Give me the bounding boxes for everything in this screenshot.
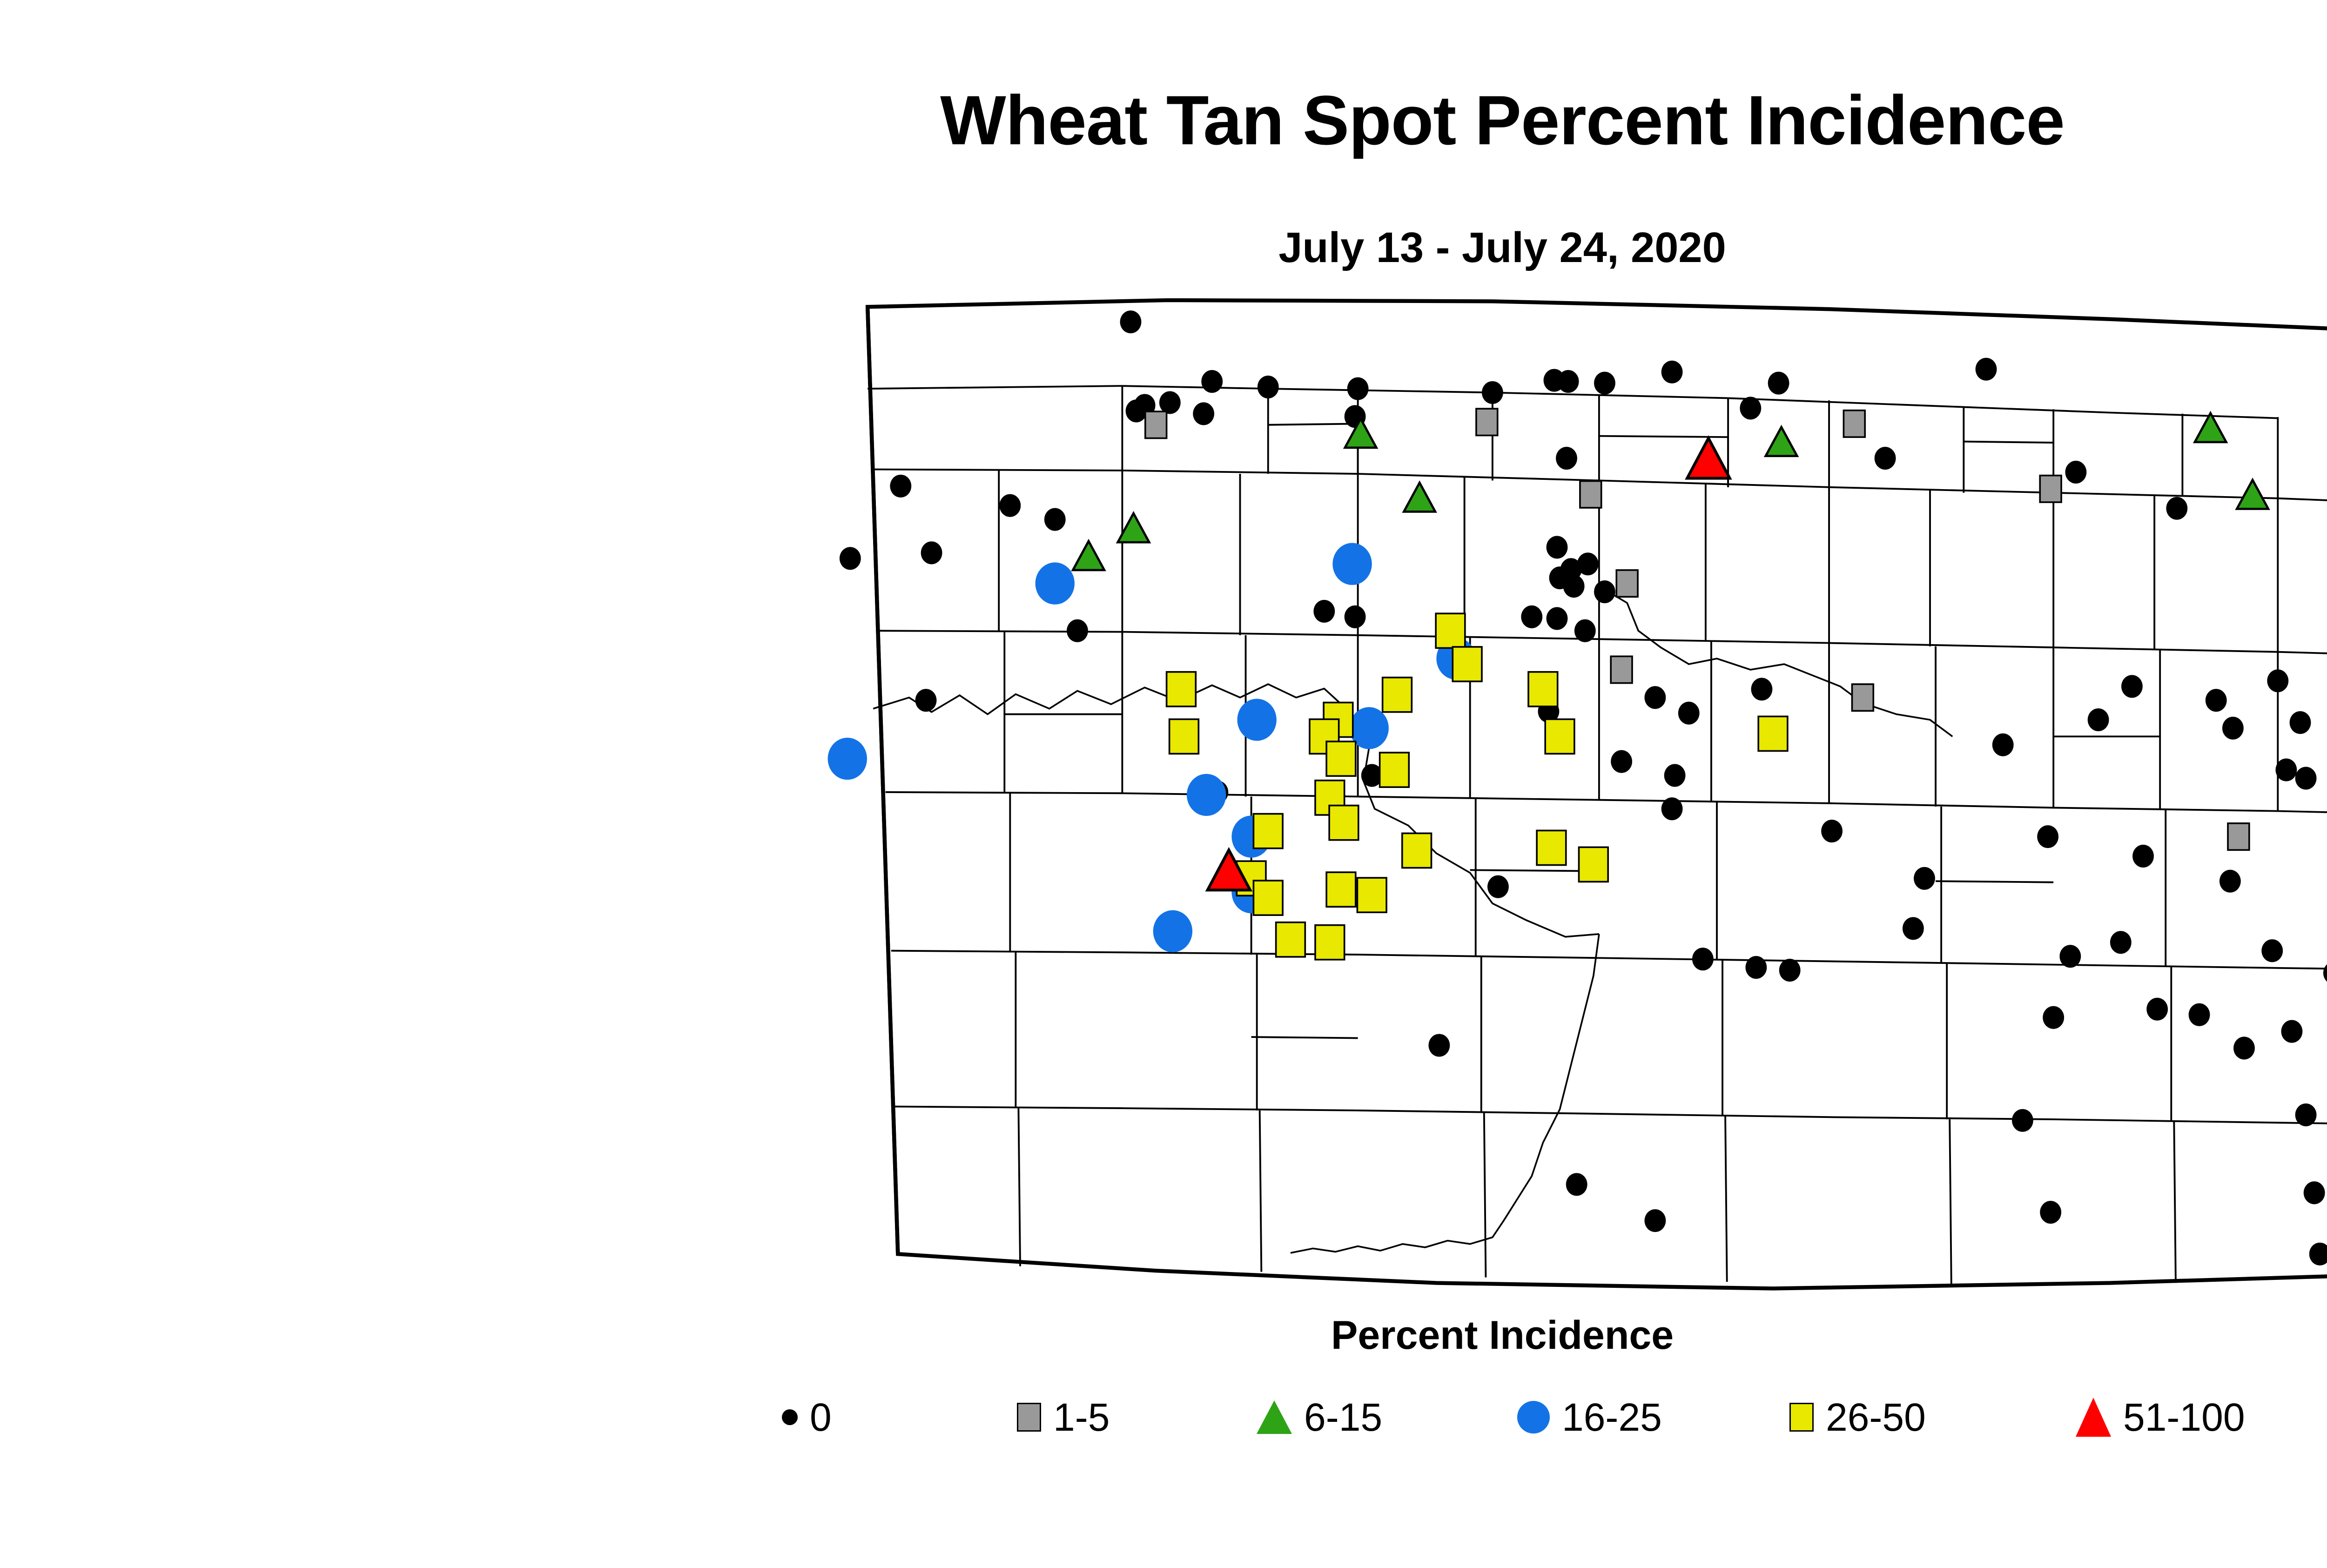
marker-1-5	[1145, 411, 1167, 438]
marker-0	[2275, 759, 2297, 781]
marker-0	[2059, 945, 2081, 968]
marker-1-5	[1843, 411, 1865, 437]
marker-0	[2233, 1036, 2255, 1059]
marker-0	[915, 689, 937, 712]
marker-0	[1821, 820, 1843, 842]
marker-26-50	[1315, 925, 1345, 960]
blue-circle-icon	[1517, 1401, 1550, 1433]
marker-0	[2290, 711, 2311, 734]
legend-item-label: 6-15	[1304, 1395, 1382, 1440]
marker-1-5	[2228, 823, 2249, 850]
marker-0	[999, 494, 1021, 517]
marker-6-15	[1118, 513, 1149, 542]
marker-0	[1768, 372, 1789, 395]
marker-0	[2281, 1020, 2303, 1043]
north-dakota-map	[763, 275, 2327, 1299]
marker-1-5	[1616, 570, 1638, 597]
marker-0	[1044, 508, 1066, 531]
marker-0	[1566, 1173, 1587, 1196]
marker-26-50	[1326, 741, 1356, 776]
map-figure: Wheat Tan Spot Percent Incidence July 13…	[0, 0, 2327, 1568]
marker-16-25	[1153, 910, 1192, 952]
marker-0	[1574, 619, 1596, 642]
marker-0	[2219, 870, 2241, 893]
marker-26-50	[1537, 830, 1566, 865]
marker-26-50	[1329, 806, 1359, 840]
marker-26-50	[1383, 678, 1412, 712]
legend-item-label: 51-100	[2123, 1395, 2245, 1440]
marker-0	[2295, 1104, 2317, 1126]
legend-item-26-50[interactable]: 26-50	[1789, 1378, 1926, 1457]
legend-item-0[interactable]: 0	[782, 1378, 832, 1457]
legend-title: Percent Incidence	[0, 1312, 2327, 1359]
marker-0	[1661, 361, 1683, 384]
marker-26-50	[1253, 814, 1283, 848]
legend: 01-56-1516-2526-5051-100	[782, 1378, 2327, 1471]
marker-6-15	[2237, 480, 2268, 509]
marker-0	[2261, 939, 2283, 962]
marker-26-50	[1579, 847, 1608, 882]
green-triangle-icon	[1257, 1400, 1292, 1434]
black-circle-icon	[782, 1409, 798, 1425]
marker-0	[1313, 600, 1335, 623]
marker-0	[1740, 397, 1761, 419]
yellow-square-icon	[1789, 1403, 1814, 1432]
marker-0	[1594, 372, 1615, 395]
marker-0	[1201, 370, 1223, 393]
marker-0	[2037, 825, 2058, 848]
marker-0	[2040, 1201, 2061, 1224]
marker-0	[890, 475, 911, 498]
marker-26-50	[1758, 716, 1788, 751]
marker-0	[1482, 381, 1503, 404]
marker-0	[1120, 310, 1142, 333]
marker-0	[840, 547, 861, 570]
marker-0	[1645, 1209, 1666, 1232]
marker-0	[1751, 678, 1773, 700]
red-triangle-icon	[2076, 1398, 2111, 1437]
legend-item-1-5[interactable]: 1-5	[1017, 1378, 1110, 1457]
marker-0	[1661, 797, 1683, 820]
marker-16-25	[1332, 543, 1372, 585]
marker-26-50	[1167, 672, 1196, 707]
legend-item-6-15[interactable]: 6-15	[1257, 1378, 1382, 1457]
marker-0	[921, 541, 942, 564]
marker-26-50	[1545, 719, 1574, 754]
marker-0	[2146, 998, 2168, 1021]
page-title: Wheat Tan Spot Percent Incidence	[0, 84, 2327, 157]
marker-26-50	[1357, 878, 1386, 912]
marker-0	[1976, 358, 1997, 381]
marker-26-50	[1276, 922, 1305, 957]
marker-0	[1345, 606, 1366, 628]
marker-0	[1159, 391, 1181, 414]
marker-26-50	[1380, 753, 1409, 787]
marker-26-50	[1253, 881, 1283, 915]
marker-0	[1914, 867, 1935, 890]
legend-item-label: 0	[810, 1395, 832, 1440]
marker-0	[2295, 767, 2317, 790]
marker-51-100	[1687, 438, 1730, 478]
legend-item-label: 16-25	[1562, 1395, 1662, 1440]
marker-16-25	[828, 738, 867, 780]
marker-0	[1547, 536, 1568, 559]
marker-0	[2012, 1109, 2033, 1132]
marker-0	[2309, 1243, 2327, 1265]
marker-6-15	[1404, 483, 1435, 511]
marker-0	[2065, 461, 2086, 484]
marker-0	[1678, 702, 1700, 725]
marker-0	[2121, 675, 2143, 698]
marker-0	[1611, 750, 1632, 773]
marker-1-5	[1611, 656, 1632, 683]
marker-0	[2206, 689, 2227, 712]
page-subtitle: July 13 - July 24, 2020	[0, 223, 2327, 272]
marker-26-50	[1326, 872, 1356, 907]
gray-square-icon	[1017, 1403, 1041, 1432]
marker-0	[1992, 734, 2014, 756]
marker-0	[2110, 931, 2132, 954]
marker-0	[1577, 552, 1599, 575]
marker-0	[1258, 376, 1279, 398]
marker-0	[2189, 1003, 2210, 1026]
marker-0	[2132, 845, 2154, 868]
legend-item-16-25[interactable]: 16-25	[1517, 1378, 1662, 1457]
marker-0	[1875, 447, 1896, 470]
marker-6-15	[1766, 427, 1797, 456]
marker-0	[1487, 875, 1509, 898]
marker-0	[1645, 686, 1666, 709]
legend-item-label: 1-5	[1053, 1395, 1110, 1440]
marker-1-5	[1580, 481, 1601, 508]
marker-0	[1067, 619, 1088, 642]
marker-0	[1556, 447, 1577, 470]
marker-0	[2222, 717, 2244, 740]
marker-1-5	[1852, 684, 1873, 711]
marker-26-50	[1528, 672, 1558, 707]
marker-0	[2304, 1181, 2325, 1204]
marker-0	[1547, 607, 1568, 630]
marker-0	[1558, 370, 1579, 393]
marker-0	[2323, 962, 2327, 984]
marker-0	[1563, 575, 1585, 598]
marker-0	[2166, 497, 2187, 520]
marker-0	[1428, 1034, 1450, 1057]
marker-26-50	[1453, 647, 1482, 681]
marker-0	[1692, 948, 1714, 970]
marker-16-25	[1187, 774, 1226, 816]
marker-0	[1193, 402, 1214, 425]
legend-item-51-100[interactable]: 51-100	[2076, 1378, 2245, 1457]
marker-6-15	[1073, 541, 1104, 570]
marker-6-15	[2195, 413, 2226, 442]
marker-26-50	[1436, 613, 1465, 648]
marker-0	[1594, 580, 1615, 603]
marker-1-5	[1476, 409, 1498, 435]
marker-0	[1745, 956, 1767, 979]
marker-0	[1779, 959, 1801, 982]
marker-0	[2088, 708, 2109, 731]
incidence-points-layer	[763, 275, 2327, 1299]
marker-0	[1903, 917, 1924, 940]
marker-1-5	[2040, 476, 2061, 502]
marker-16-25	[1036, 562, 1075, 604]
marker-0	[1664, 764, 1686, 787]
marker-0	[1347, 377, 1369, 400]
marker-0	[2267, 669, 2288, 692]
marker-16-25	[1237, 699, 1276, 740]
marker-26-50	[1402, 833, 1432, 868]
marker-26-50	[1170, 719, 1199, 754]
marker-0	[2043, 1006, 2064, 1029]
marker-0	[1521, 606, 1542, 628]
legend-item-label: 26-50	[1826, 1395, 1926, 1440]
